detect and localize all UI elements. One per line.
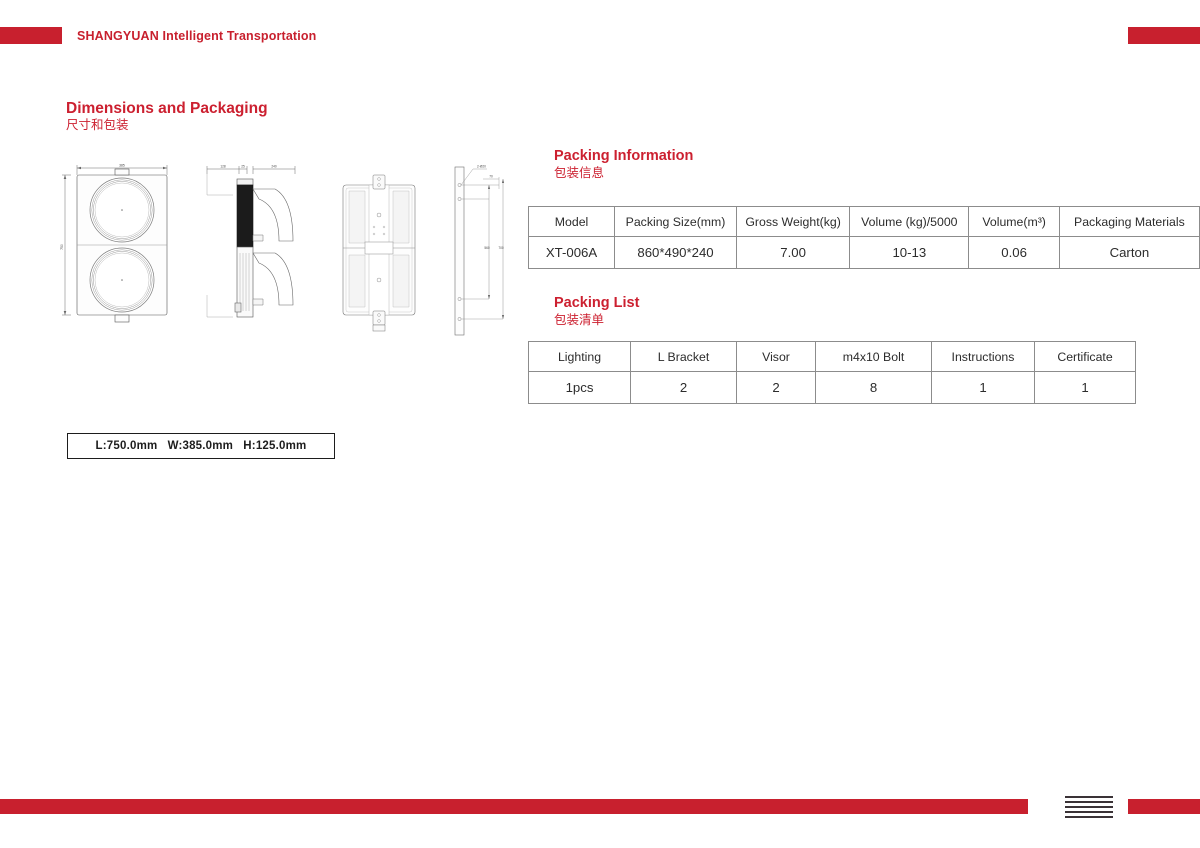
cell-gross-weight: 7.00	[736, 237, 849, 269]
svg-text:560: 560	[484, 246, 490, 250]
cell-packaging-materials: Carton	[1059, 237, 1199, 269]
footer-accent-bar-main	[0, 799, 1028, 814]
packing-information-table: Model Packing Size(mm) Gross Weight(kg) …	[528, 206, 1200, 269]
footer-stripe	[1065, 811, 1113, 813]
column-header-visor: Visor	[737, 342, 816, 372]
page-header: SHANGYUAN Intelligent Transportation	[0, 0, 1200, 56]
front-view-drawing: 385 750	[60, 164, 167, 323]
svg-text:700: 700	[498, 246, 504, 250]
technical-drawings: 385 750	[55, 155, 535, 345]
cell-volume-m3: 0.06	[969, 237, 1059, 269]
cell-l-bracket: 2	[631, 372, 737, 404]
rear-view-drawing	[343, 175, 415, 331]
page-title-zh: 尺寸和包装	[66, 117, 268, 133]
page-title-en: Dimensions and Packaging	[66, 100, 268, 117]
column-header-instructions: Instructions	[932, 342, 1035, 372]
packing-list-heading: Packing List 包装清单	[554, 295, 639, 328]
footer-stripes-decoration	[1065, 796, 1113, 818]
footer-stripe	[1065, 806, 1113, 808]
footer-stripe	[1065, 796, 1113, 798]
column-header-volume-kg-5000: Volume (kg)/5000	[850, 207, 969, 237]
table-header-row: Model Packing Size(mm) Gross Weight(kg) …	[529, 207, 1200, 237]
svg-text:240: 240	[271, 165, 277, 169]
column-header-model: Model	[529, 207, 615, 237]
cell-certificate: 1	[1035, 372, 1136, 404]
column-header-packing-size: Packing Size(mm)	[615, 207, 737, 237]
svg-text:25: 25	[241, 165, 245, 169]
page-title: Dimensions and Packaging 尺寸和包装	[66, 100, 268, 133]
packing-information-heading: Packing Information 包装信息	[554, 148, 693, 181]
page-footer	[0, 790, 1200, 820]
table-row: XT-006A 860*490*240 7.00 10-13 0.06 Cart…	[529, 237, 1200, 269]
cell-model: XT-006A	[529, 237, 615, 269]
svg-text:385: 385	[119, 164, 125, 168]
dimension-summary-text: L:750.0mm W:385.0mm H:125.0mm	[96, 440, 307, 452]
column-header-gross-weight: Gross Weight(kg)	[736, 207, 849, 237]
column-header-l-bracket: L Bracket	[631, 342, 737, 372]
brand-title: SHANGYUAN Intelligent Transportation	[77, 29, 316, 43]
column-header-volume-m3: Volume(m³)	[969, 207, 1059, 237]
svg-text:128: 128	[220, 165, 226, 169]
footer-stripe	[1065, 801, 1113, 803]
header-accent-bar-right	[1128, 27, 1200, 44]
svg-text:2-Ø20: 2-Ø20	[477, 165, 486, 169]
drawings-svg: 385 750	[55, 155, 535, 345]
column-header-m4x10-bolt: m4x10 Bolt	[816, 342, 932, 372]
cell-packing-size: 860*490*240	[615, 237, 737, 269]
table-header-row: Lighting L Bracket Visor m4x10 Bolt Inst…	[529, 342, 1136, 372]
packing-information-title-en: Packing Information	[554, 148, 693, 165]
column-header-packaging-materials: Packaging Materials	[1059, 207, 1199, 237]
cell-visor: 2	[737, 372, 816, 404]
table-row: 1pcs 2 2 8 1 1	[529, 372, 1136, 404]
cell-volume-kg-5000: 10-13	[850, 237, 969, 269]
footer-accent-bar-right	[1128, 799, 1200, 814]
packing-list-title-zh: 包装清单	[554, 312, 639, 328]
footer-stripe	[1065, 816, 1113, 818]
side-view-drawing: 128 25 240	[207, 165, 295, 318]
column-header-lighting: Lighting	[529, 342, 631, 372]
header-accent-bar-left	[0, 27, 62, 44]
cell-lighting: 1pcs	[529, 372, 631, 404]
column-header-certificate: Certificate	[1035, 342, 1136, 372]
cell-m4x10-bolt: 8	[816, 372, 932, 404]
cell-instructions: 1	[932, 372, 1035, 404]
dimension-summary-box: L:750.0mm W:385.0mm H:125.0mm	[67, 433, 335, 459]
svg-text:750: 750	[60, 244, 64, 250]
bracket-view-drawing: 2-Ø20 70 560	[455, 165, 504, 336]
packing-list-title-en: Packing List	[554, 295, 639, 312]
packing-information-title-zh: 包装信息	[554, 165, 693, 181]
svg-text:70: 70	[489, 175, 493, 179]
packing-list-table: Lighting L Bracket Visor m4x10 Bolt Inst…	[528, 341, 1136, 404]
